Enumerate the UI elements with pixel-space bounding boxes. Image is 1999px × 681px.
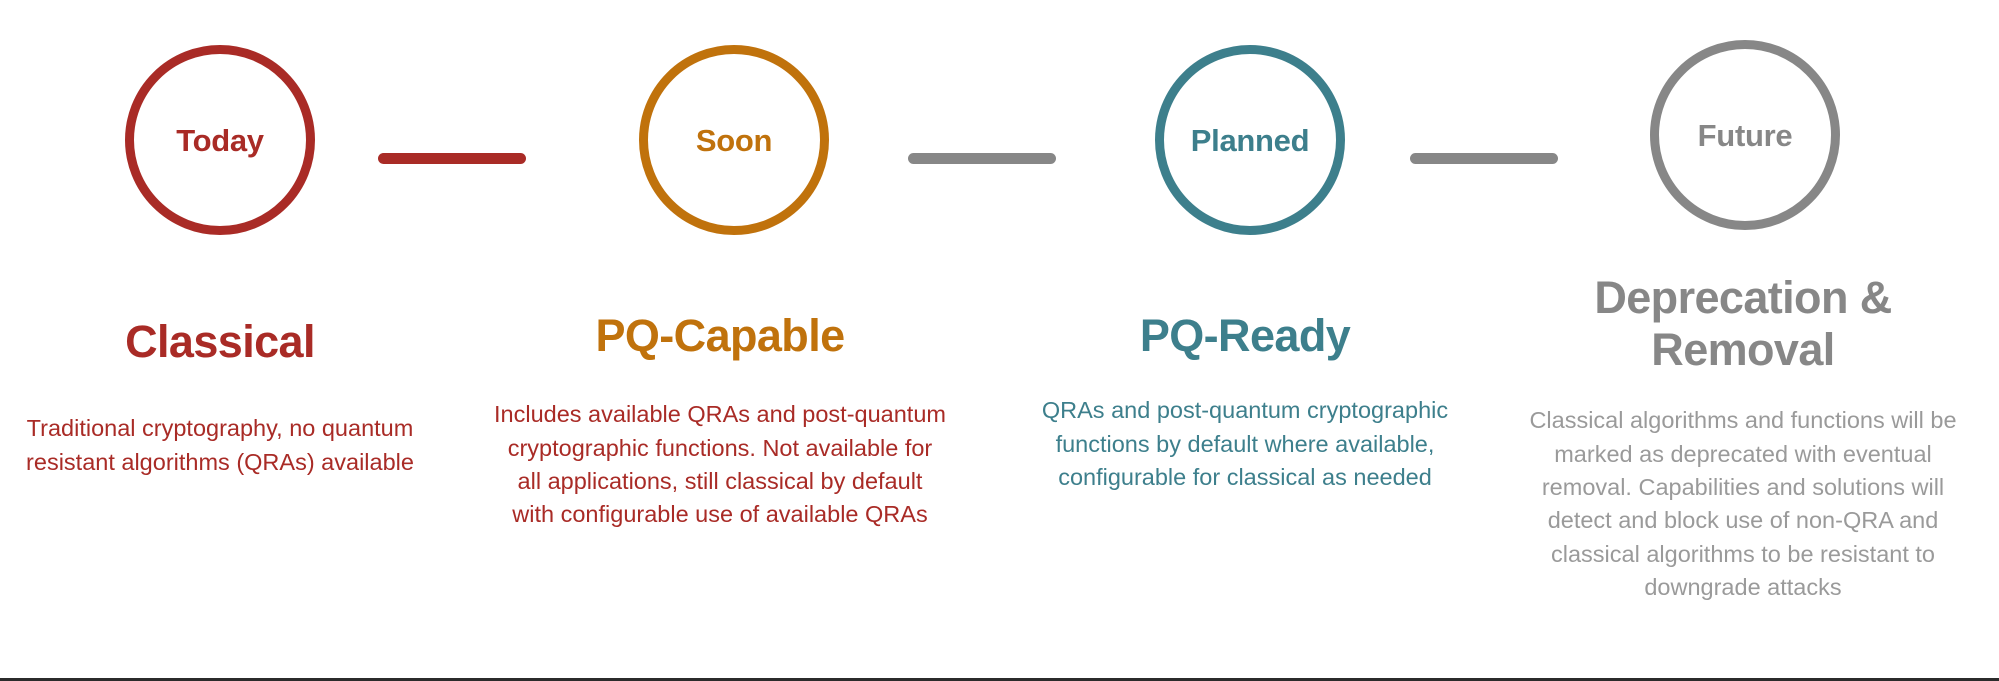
stage-column-pq-capable: PQ-Capable Includes available QRAs and p…: [455, 310, 985, 532]
stage-body-pq-capable: Includes available QRAs and post-quantum…: [455, 398, 985, 531]
stage-heading-classical: Classical: [0, 316, 440, 368]
stage-body-classical: Traditional cryptography, no quantum res…: [0, 412, 440, 479]
stage-heading-pq-ready: PQ-Ready: [1000, 310, 1490, 362]
stage-body-deprecation-removal: Classical algorithms and functions will …: [1508, 404, 1978, 604]
stage-columns: Classical Traditional cryptography, no q…: [0, 0, 1999, 681]
stage-column-deprecation-removal: Deprecation & Removal Classical algorith…: [1508, 272, 1978, 605]
stage-heading-pq-capable: PQ-Capable: [455, 310, 985, 362]
stage-column-pq-ready: PQ-Ready QRAs and post-quantum cryptogra…: [1000, 310, 1490, 494]
stage-column-classical: Classical Traditional cryptography, no q…: [0, 316, 440, 479]
stage-body-pq-ready: QRAs and post-quantum cryptographic func…: [1000, 394, 1490, 494]
stage-heading-deprecation-removal: Deprecation & Removal: [1508, 272, 1978, 376]
pqc-roadmap-diagram: Today Soon Planned Future Classical Trad…: [0, 0, 1999, 681]
